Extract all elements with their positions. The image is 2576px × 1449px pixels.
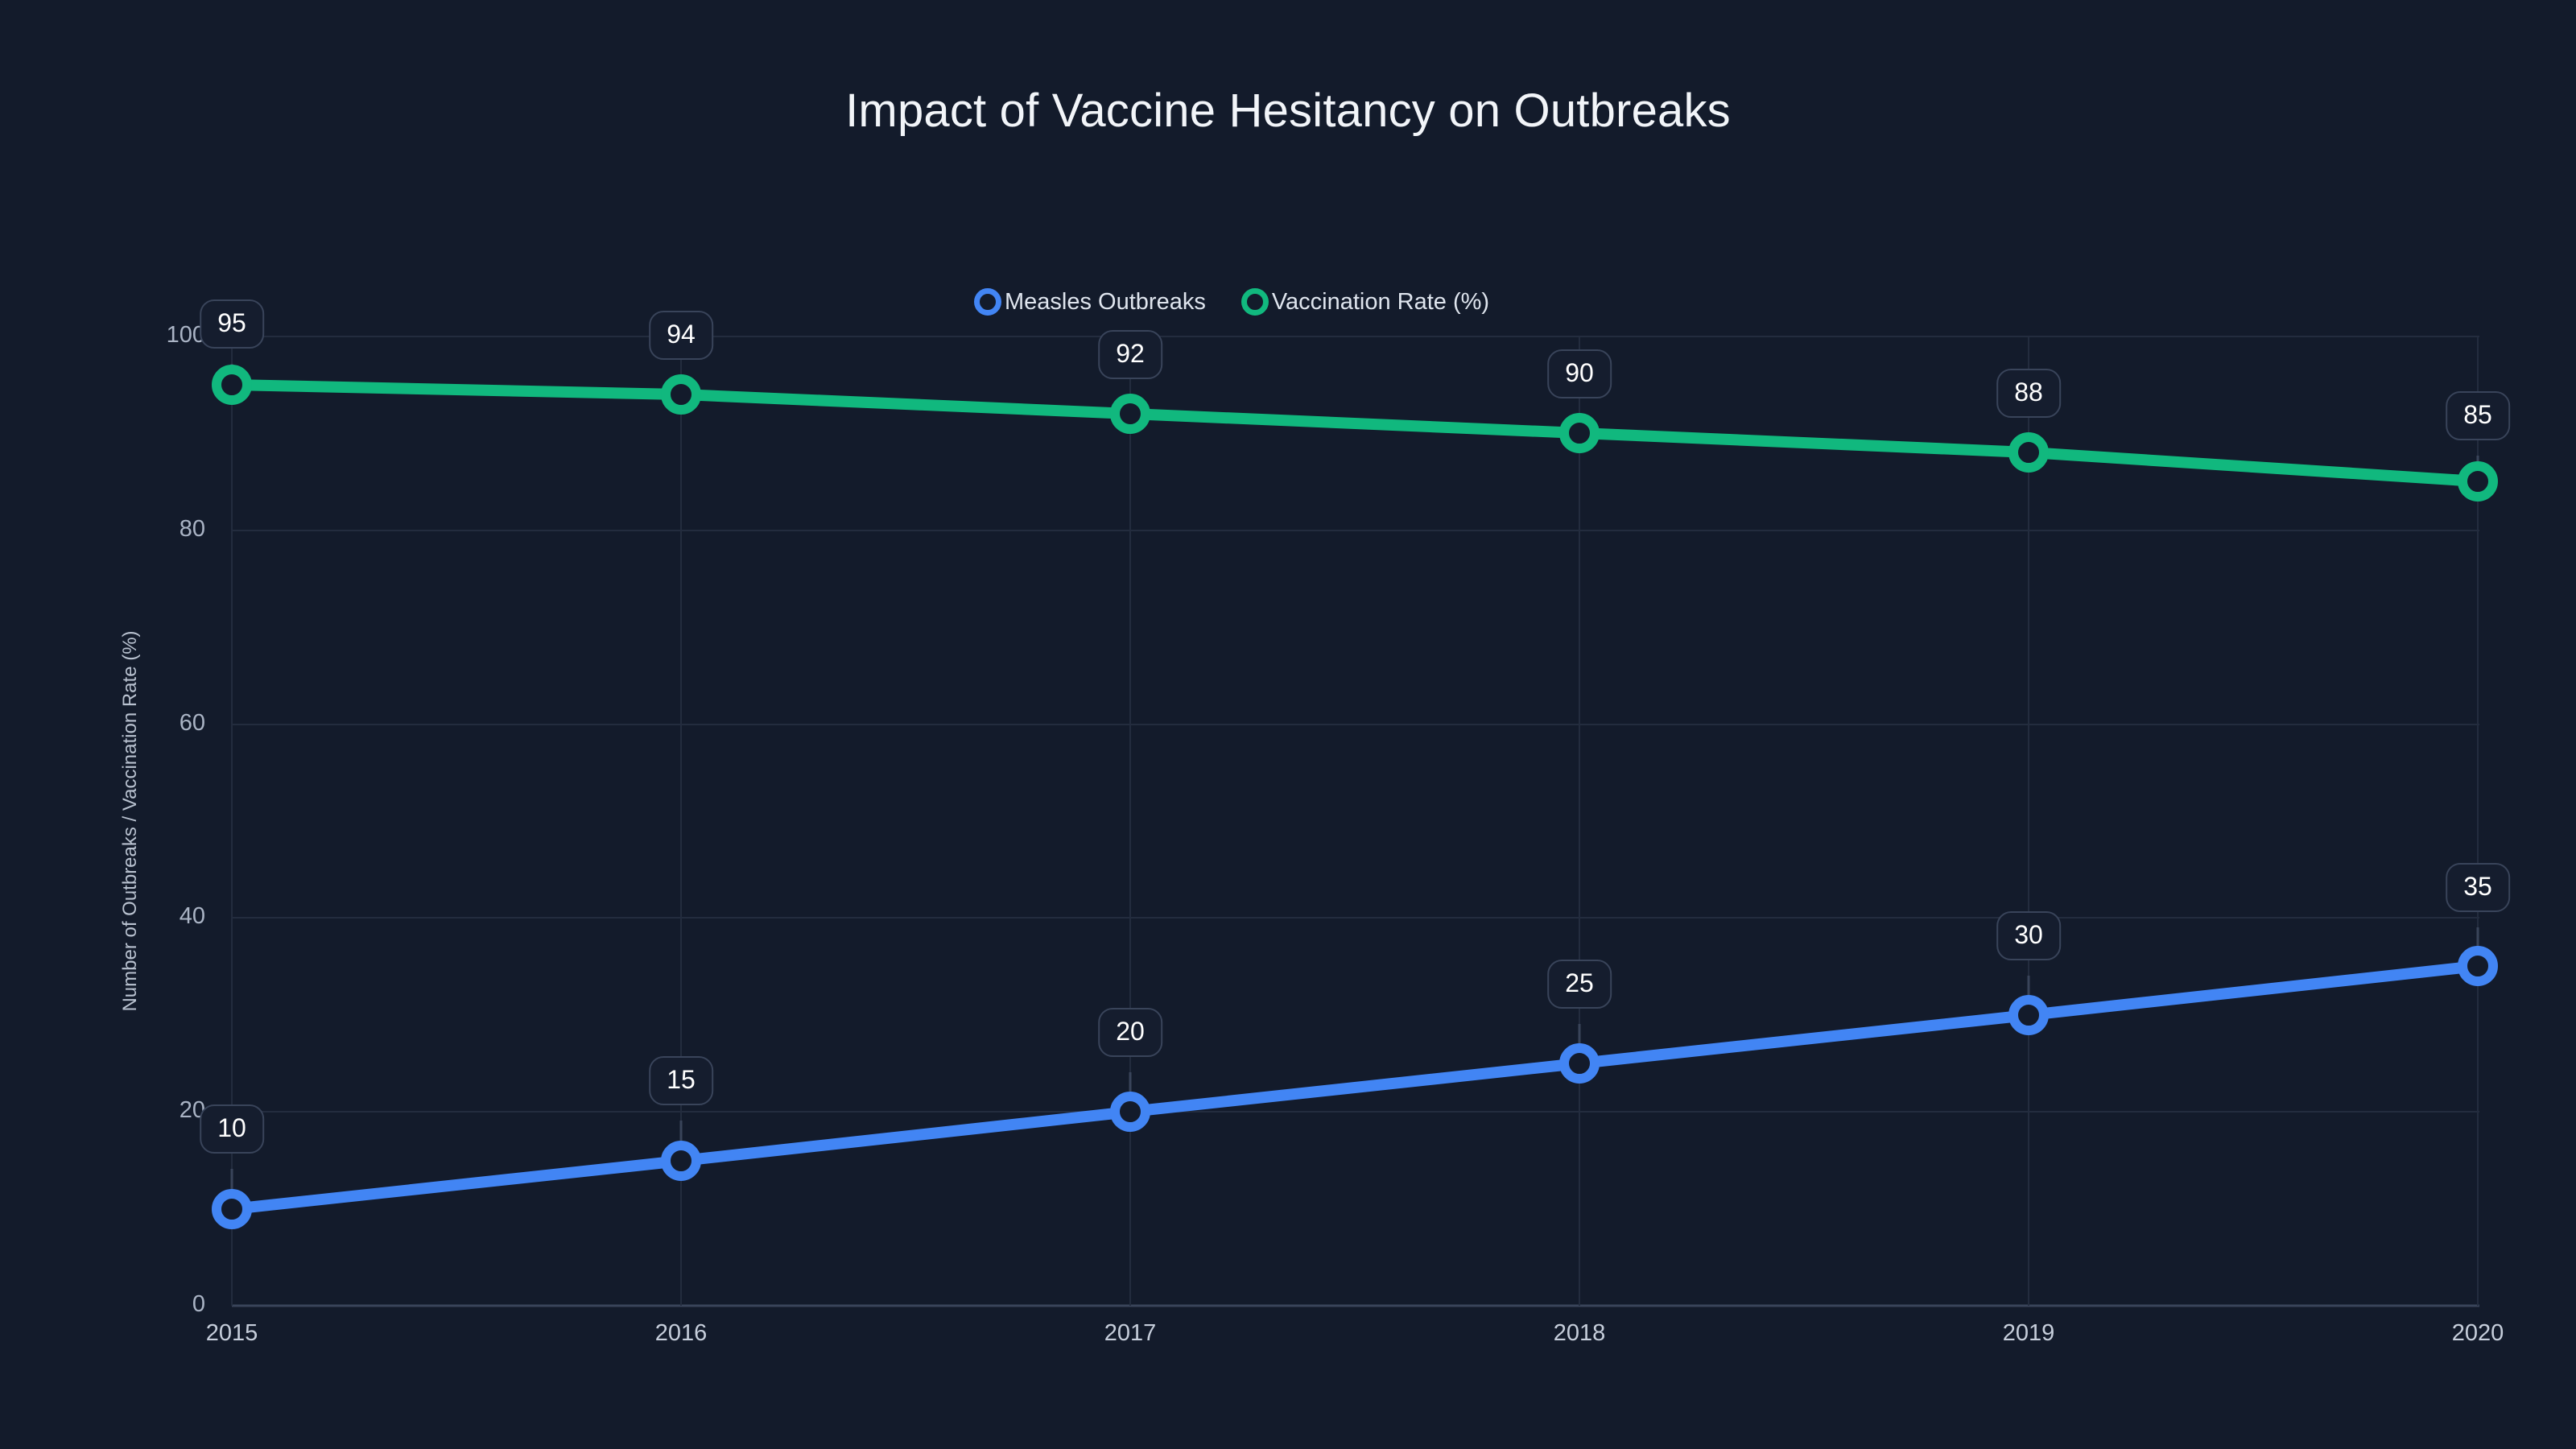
data-label-badge: 30 — [1996, 911, 2061, 960]
gridlines — [232, 336, 2479, 1306]
data-label-badge: 90 — [1547, 349, 1612, 398]
data-label-badge: 95 — [200, 299, 264, 349]
ring-icon — [1241, 288, 1269, 316]
data-label-badge: 15 — [649, 1056, 713, 1105]
data-label-badge: 20 — [1098, 1008, 1162, 1057]
legend-item-vaccination-rate[interactable]: Vaccination Rate (%) — [1241, 288, 1489, 316]
chart-canvas: Impact of Vaccine Hesitancy on Outbreaks… — [0, 0, 2576, 1449]
legend-label: Vaccination Rate (%) — [1272, 289, 1489, 316]
data-label-badge: 25 — [1547, 960, 1612, 1009]
legend-item-measles-outbreaks[interactable]: Measles Outbreaks — [974, 288, 1206, 316]
series-line-measles-outbreaks — [232, 966, 2478, 1209]
data-label-badge: 10 — [200, 1104, 264, 1154]
data-label-badge: 85 — [2446, 391, 2510, 440]
plot-area — [0, 0, 2576, 1449]
ring-icon — [974, 288, 1001, 316]
data-label-badge: 35 — [2446, 863, 2510, 912]
data-label-badge: 88 — [1996, 369, 2061, 418]
series-line-vaccination-rate — [232, 385, 2478, 481]
data-label-badge: 92 — [1098, 330, 1162, 379]
legend-label: Measles Outbreaks — [1005, 289, 1206, 316]
chart-legend: Measles Outbreaks Vaccination Rate (%) — [974, 288, 1489, 316]
data-label-badge: 94 — [649, 311, 713, 360]
